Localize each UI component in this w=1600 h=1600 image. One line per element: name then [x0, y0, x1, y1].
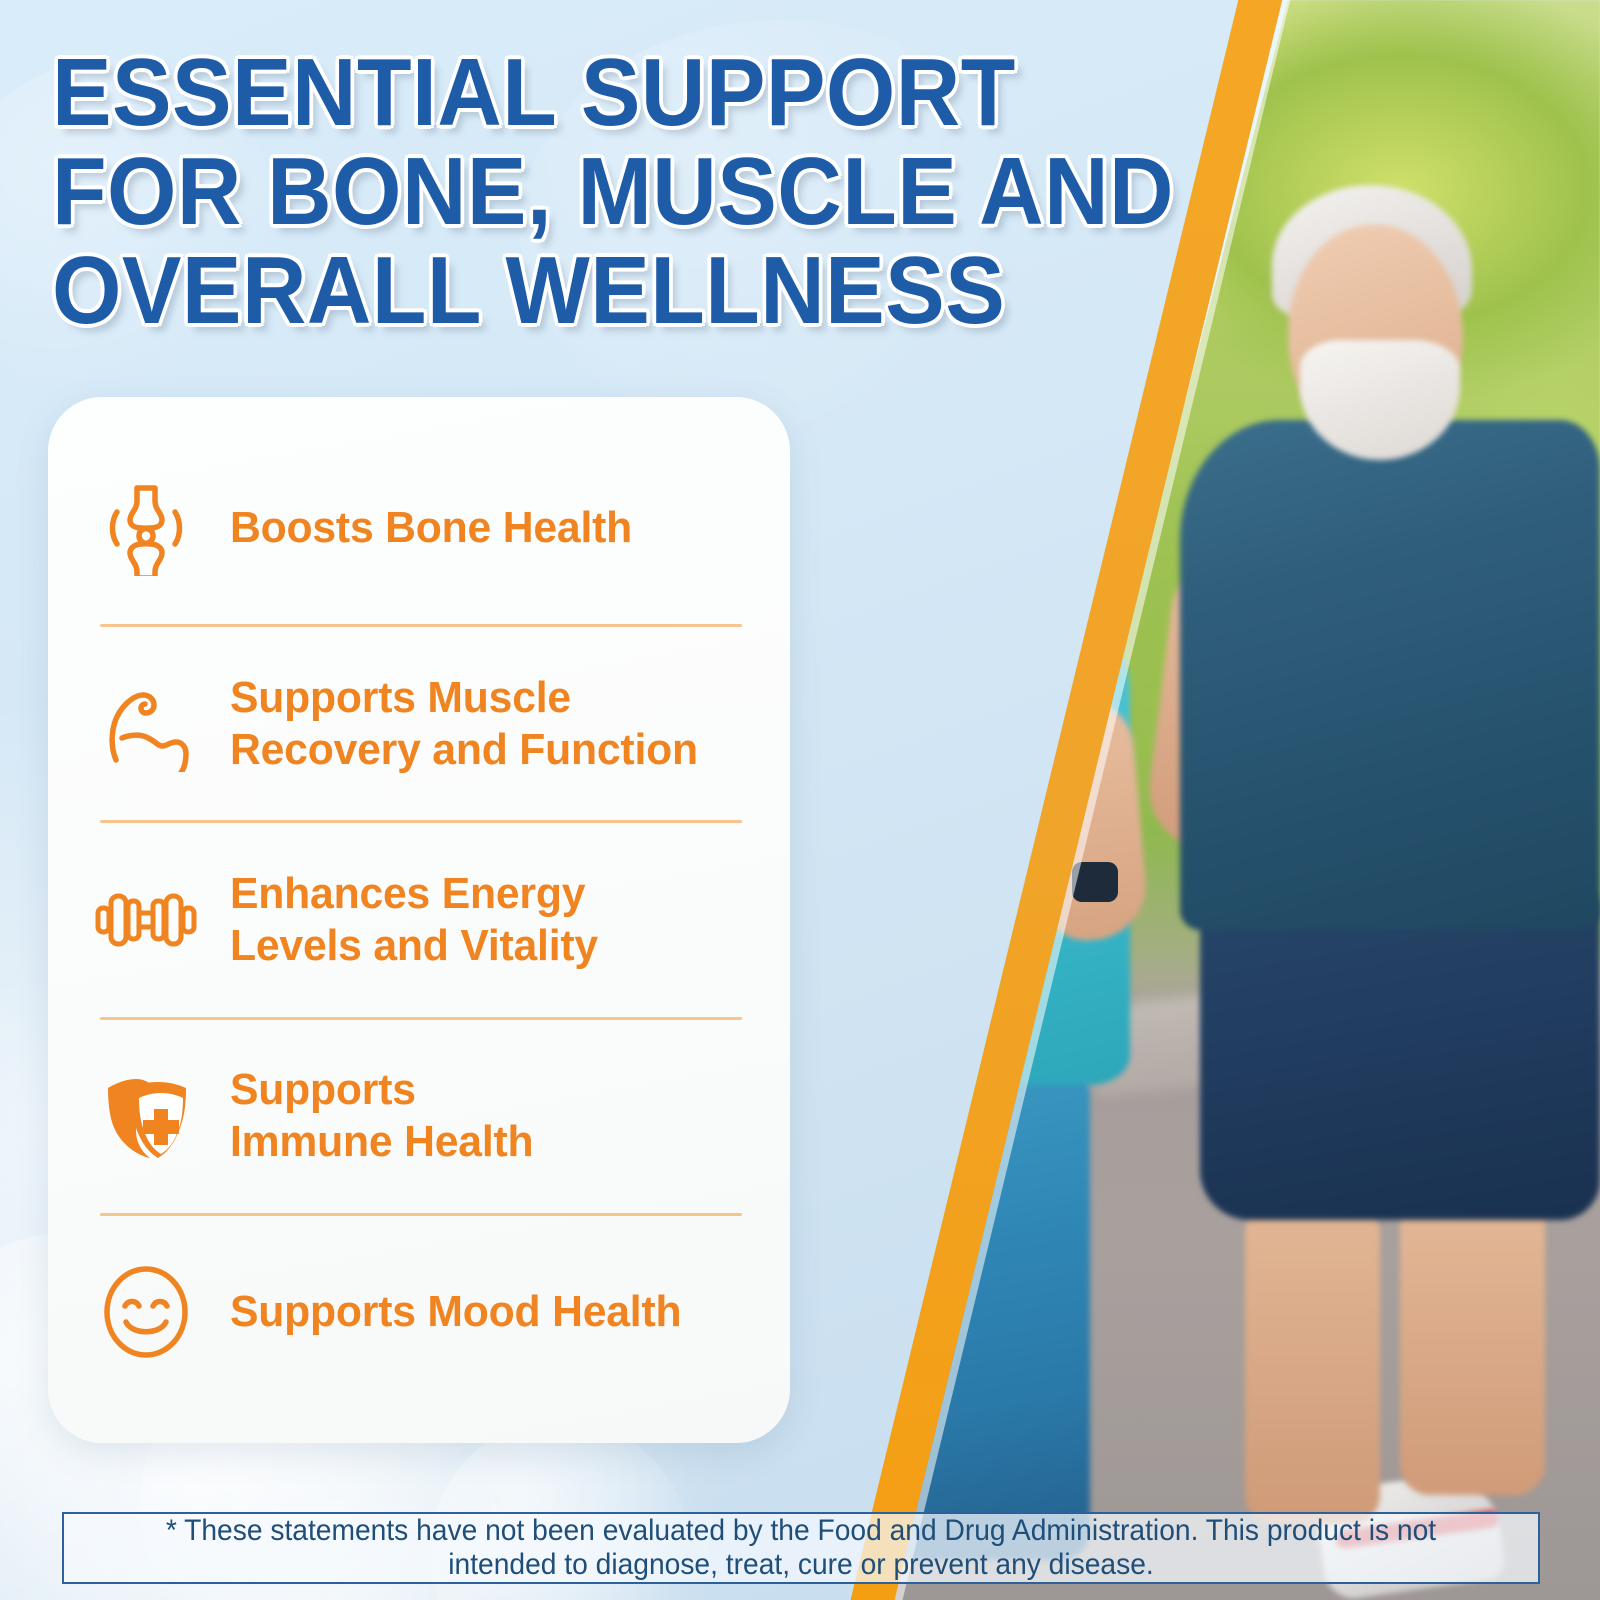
smiley-face-icon	[92, 1258, 200, 1366]
benefit-item-immune-health: Supports Immune Health	[92, 1020, 750, 1213]
benefit-label: Enhances Energy Levels and Vitality	[230, 868, 598, 972]
dumbbell-icon	[92, 866, 200, 974]
fda-disclaimer-text: * These statements have not been evaluat…	[118, 1514, 1485, 1581]
photo-man-right-leg	[1400, 1175, 1545, 1495]
flexed-bicep-icon	[92, 670, 200, 778]
benefit-label: Supports Muscle Recovery and Function	[230, 672, 698, 776]
benefit-item-mood-health: Supports Mood Health	[92, 1216, 750, 1409]
benefit-label: Boosts Bone Health	[230, 502, 632, 554]
headline-line-2: FOR BONE, MUSCLE AND	[52, 143, 1131, 242]
headline-line-3: OVERALL WELLNESS	[52, 242, 1131, 341]
headline-line-1: ESSENTIAL SUPPORT	[52, 44, 1131, 143]
photo-man-shirt	[1180, 420, 1600, 930]
benefit-label: Supports Immune Health	[230, 1064, 533, 1168]
page-title: ESSENTIAL SUPPORT FOR BONE, MUSCLE AND O…	[52, 44, 1212, 341]
photo-man-shorts	[1200, 880, 1600, 1220]
benefit-item-bone-health: Boosts Bone Health	[92, 431, 750, 624]
product-banner: ESSENTIAL SUPPORT FOR BONE, MUSCLE AND O…	[0, 0, 1600, 1600]
bone-joint-icon	[92, 474, 200, 582]
benefit-item-muscle-recovery: Supports Muscle Recovery and Function	[92, 627, 750, 820]
photo-man-left-leg	[1245, 1185, 1380, 1525]
benefit-item-energy-vitality: Enhances Energy Levels and Vitality	[92, 823, 750, 1016]
benefits-card: Boosts Bone Health Supports Muscle Recov…	[48, 397, 790, 1443]
shield-cross-icon	[92, 1062, 200, 1170]
fda-disclaimer-box: * These statements have not been evaluat…	[62, 1512, 1540, 1584]
benefit-label: Supports Mood Health	[230, 1286, 681, 1338]
